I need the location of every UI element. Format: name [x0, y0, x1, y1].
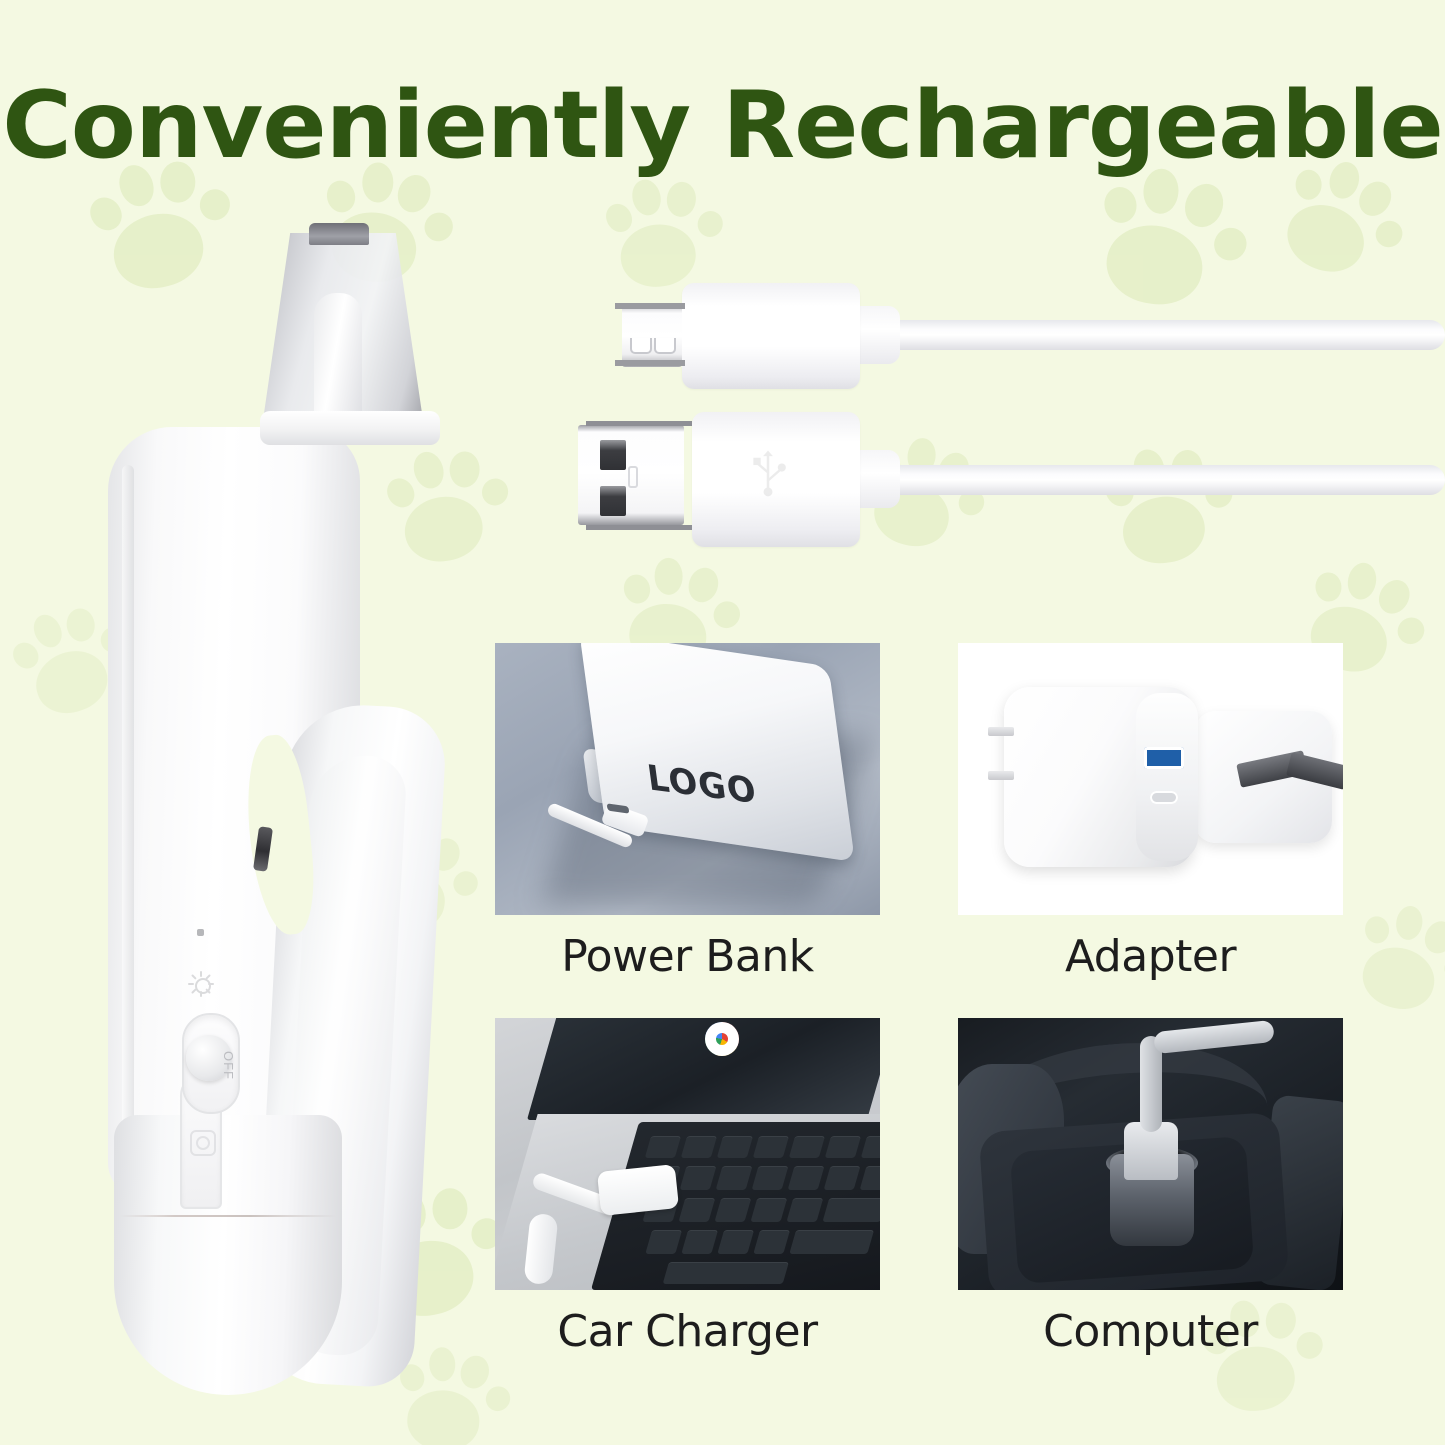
- usb-c-port-icon: [1150, 791, 1178, 804]
- micro-usb-notch: [654, 338, 676, 354]
- power-bank-photo: LOGO: [495, 643, 880, 915]
- clipper-blade-base: [260, 411, 440, 445]
- paw-print: [1092, 429, 1244, 575]
- usb-plug: [597, 1164, 679, 1216]
- light-icon: [188, 971, 214, 997]
- charging-option-computer[interactable]: Computer: [958, 1018, 1343, 1357]
- paw-print: [594, 164, 731, 296]
- car-charger-photo: [495, 1018, 880, 1290]
- micro-usb-shell-edge: [615, 303, 685, 309]
- clipper-blade: [314, 293, 362, 421]
- caption-computer: Computer: [958, 1306, 1343, 1357]
- charging-option-power-bank[interactable]: LOGO Power Bank: [495, 643, 880, 982]
- usb-a-shell-edge: [586, 421, 692, 426]
- micro-usb-shell-edge: [615, 360, 685, 366]
- clipper-handle-bottom: [114, 1115, 342, 1395]
- clipper-seam-line: [120, 1215, 336, 1217]
- charging-option-adapter[interactable]: Adapter: [958, 643, 1343, 982]
- caption-car-charger: Car Charger: [495, 1306, 880, 1357]
- product-image-nail-clipper: OFF: [100, 215, 450, 1405]
- clipper-ridge: [122, 465, 134, 1165]
- micro-usb-tip: [622, 303, 682, 367]
- usb-a-keyhole: [628, 466, 638, 488]
- micro-usb-wire: [880, 320, 1445, 350]
- usb-trident-icon: [742, 448, 794, 500]
- laptop-screen: [527, 1018, 880, 1120]
- adapter-photo: [958, 643, 1343, 915]
- micro-usb-housing: [682, 283, 860, 389]
- infographic-canvas: Conveniently Rechargeable OFF: [0, 0, 1445, 1445]
- clipper-guard-cap: [309, 223, 369, 245]
- browser-icon: [705, 1022, 739, 1056]
- charging-option-car-charger[interactable]: Car Charger: [495, 1018, 880, 1357]
- computer-photo: [958, 1018, 1343, 1290]
- page-title: Conveniently Rechargeable: [0, 78, 1445, 173]
- usb-a-contact: [600, 486, 626, 516]
- paw-print: [1339, 886, 1445, 1029]
- usb-a-contact: [600, 440, 626, 470]
- mode-icon: [190, 1130, 216, 1156]
- micro-usb-notch: [630, 338, 652, 354]
- caption-power-bank: Power Bank: [495, 931, 880, 982]
- charging-options-grid: LOGO Power Bank Adapter: [495, 643, 1343, 1343]
- usb-a-shell-edge: [586, 525, 692, 530]
- caption-adapter: Adapter: [958, 931, 1343, 982]
- switch-off-label: OFF: [221, 1051, 236, 1080]
- led-indicator-icon: [197, 929, 204, 936]
- usb-a-wire: [880, 465, 1445, 495]
- usb-a-port-icon: [1144, 747, 1184, 769]
